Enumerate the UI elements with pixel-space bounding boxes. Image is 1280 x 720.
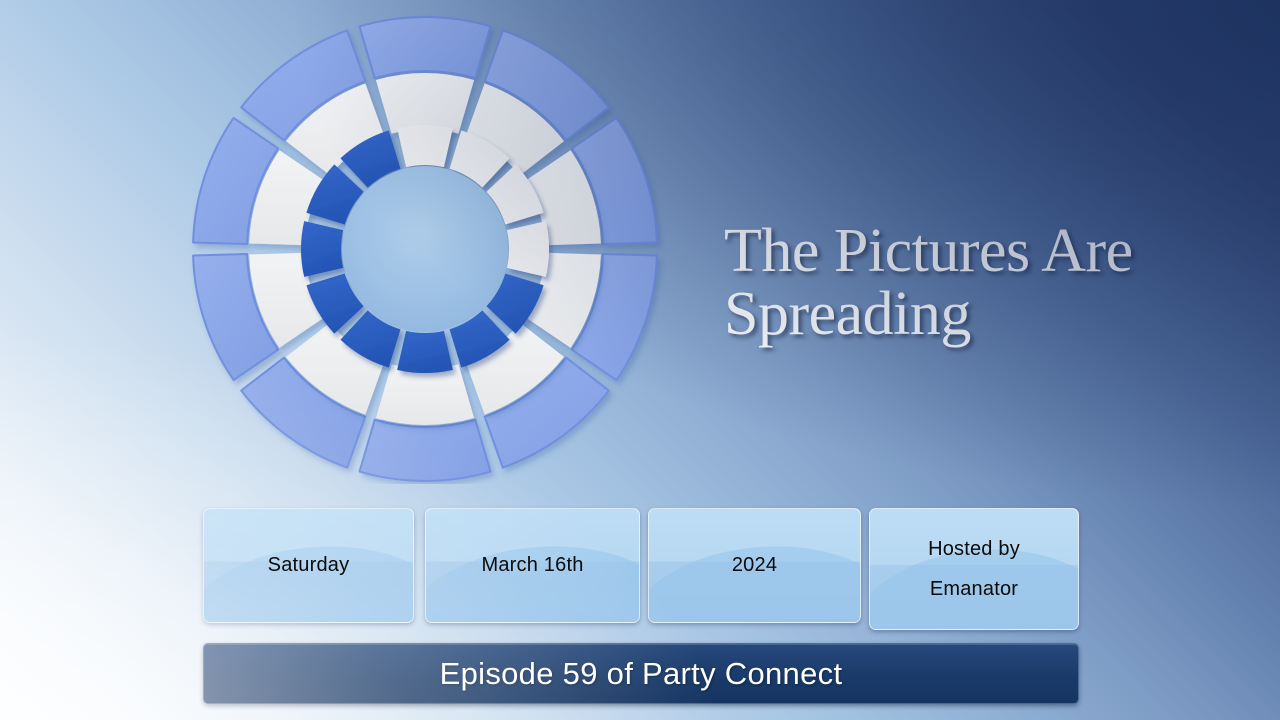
wheel-segment-inner-0 [397,125,453,167]
date-card-label: March 16th [473,546,591,585]
episode-banner-label: Episode 59 of Party Connect [440,656,843,692]
wheel-segment-middle-5 [376,364,474,425]
wheel-segment-outer-0 [360,17,491,78]
host-card[interactable]: Hosted byEmanator [869,508,1079,630]
wheel-segment-inner-9 [301,221,343,277]
year-card-label: 2024 [724,546,785,585]
wheel-segment-inner-6 [397,331,453,373]
host-card-label: Hosted byEmanator [920,529,1028,609]
host-card-line-2: Emanator [928,569,1020,609]
wheel-segment-inner-3 [507,221,549,277]
episode-banner[interactable]: Episode 59 of Party Connect [203,643,1079,704]
wheel-segment-outer-5 [360,420,491,481]
date-card[interactable]: March 16th [425,508,640,623]
host-card-line-1: Hosted by [928,529,1020,569]
wheel-segment-middle-0 [376,73,474,134]
fact-card-row: Saturday March 16th 2024 Hosted byEmanat… [203,508,1077,630]
segmented-radial-wheel [160,14,690,484]
wheel-hub [342,166,508,332]
presentation-slide: The Pictures Are Spreading Saturday Marc… [0,0,1280,720]
year-card[interactable]: 2024 [648,508,861,623]
day-card[interactable]: Saturday [203,508,414,623]
day-card-label: Saturday [260,546,358,585]
page-title: The Pictures Are Spreading [724,220,1234,346]
